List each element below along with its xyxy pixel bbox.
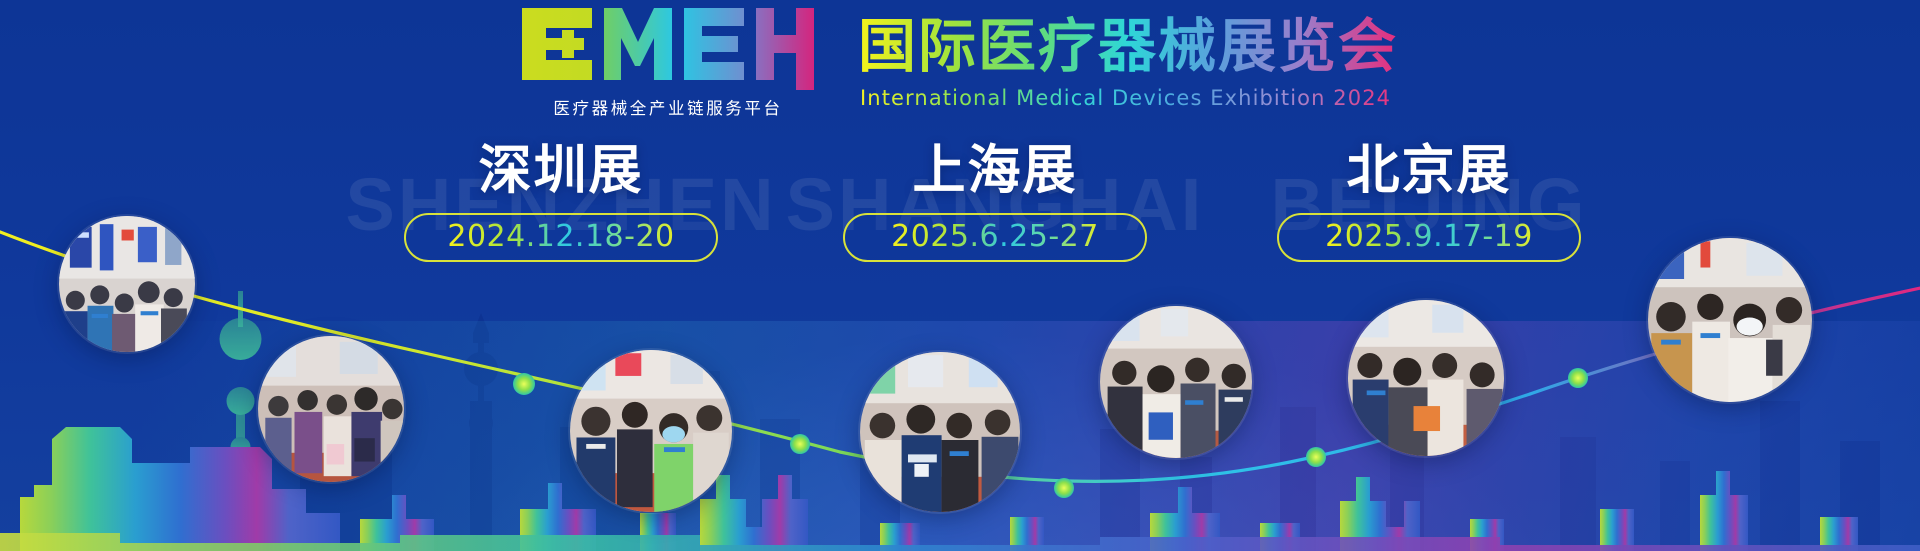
city-date-text: 2024.12.18-20	[436, 219, 686, 253]
exhibition-crowd-photo	[1648, 238, 1812, 402]
city-shenzhen: SHENZHEN 深圳展 2024.12.18-20	[361, 142, 761, 262]
city-date-pill[interactable]: 2025.9.17-19	[1277, 213, 1581, 262]
city-shanghai: SHANGHAI 上海展 2025.6.25-27	[795, 142, 1195, 262]
city-name: 上海展	[913, 142, 1078, 199]
city-date-pill[interactable]: 2024.12.18-20	[404, 213, 718, 262]
title-chinese: 国际医疗器械展览会	[858, 14, 1398, 78]
glow-dot	[1054, 478, 1074, 498]
photo-bubble	[570, 350, 732, 512]
title-english: International Medical Devices Exhibition…	[858, 83, 1398, 111]
exhibition-crowd-photo	[860, 352, 1020, 512]
cmeh-exhibition-banner: 医疗器械全产业链服务平台 国际医疗器械展览会	[0, 0, 1920, 551]
city-name: 北京展	[1347, 142, 1512, 199]
city-beijing: BEIJING 北京展 2025.9.17-19	[1229, 142, 1629, 262]
photo-bubble	[860, 352, 1020, 512]
city-date-text: 2025.9.17-19	[1309, 219, 1549, 253]
exhibition-crowd-photo	[1100, 306, 1252, 458]
svg-text:International Medical Devices: International Medical Devices Exhibition…	[860, 86, 1391, 110]
photo-bubble	[1648, 238, 1812, 402]
glow-dot	[1306, 447, 1326, 467]
city-list: SHENZHEN 深圳展 2024.12.18-20	[0, 142, 1920, 262]
glow-dot	[1568, 368, 1588, 388]
city-date-text: 2025.6.25-27	[875, 219, 1115, 253]
banner-header: 医疗器械全产业链服务平台 国际医疗器械展览会	[0, 8, 1920, 119]
svg-text:2025.9.17-19: 2025.9.17-19	[1325, 219, 1533, 253]
svg-text:2025.6.25-27: 2025.6.25-27	[891, 219, 1099, 253]
glow-dot	[790, 434, 810, 454]
svg-text:国际医疗器械展览会: 国际医疗器械展览会	[858, 14, 1398, 78]
exhibition-crowd-photo	[258, 336, 404, 482]
city-date-pill[interactable]: 2025.6.25-27	[843, 213, 1147, 262]
photo-bubble	[1348, 300, 1504, 456]
city-name: 深圳展	[479, 142, 644, 199]
glow-dot	[513, 373, 535, 395]
exhibition-crowd-photo	[570, 350, 732, 512]
cmeh-logomark-icon	[522, 8, 814, 90]
title-block: 国际医疗器械展览会 International Medical Devices …	[858, 8, 1398, 111]
photo-bubble	[258, 336, 404, 482]
photo-bubble	[1100, 306, 1252, 458]
cmeh-logo: 医疗器械全产业链服务平台	[522, 8, 814, 119]
svg-text:2024.12.18-20: 2024.12.18-20	[447, 219, 674, 253]
logo-tagline: 医疗器械全产业链服务平台	[553, 95, 782, 119]
exhibition-crowd-photo	[1348, 300, 1504, 456]
